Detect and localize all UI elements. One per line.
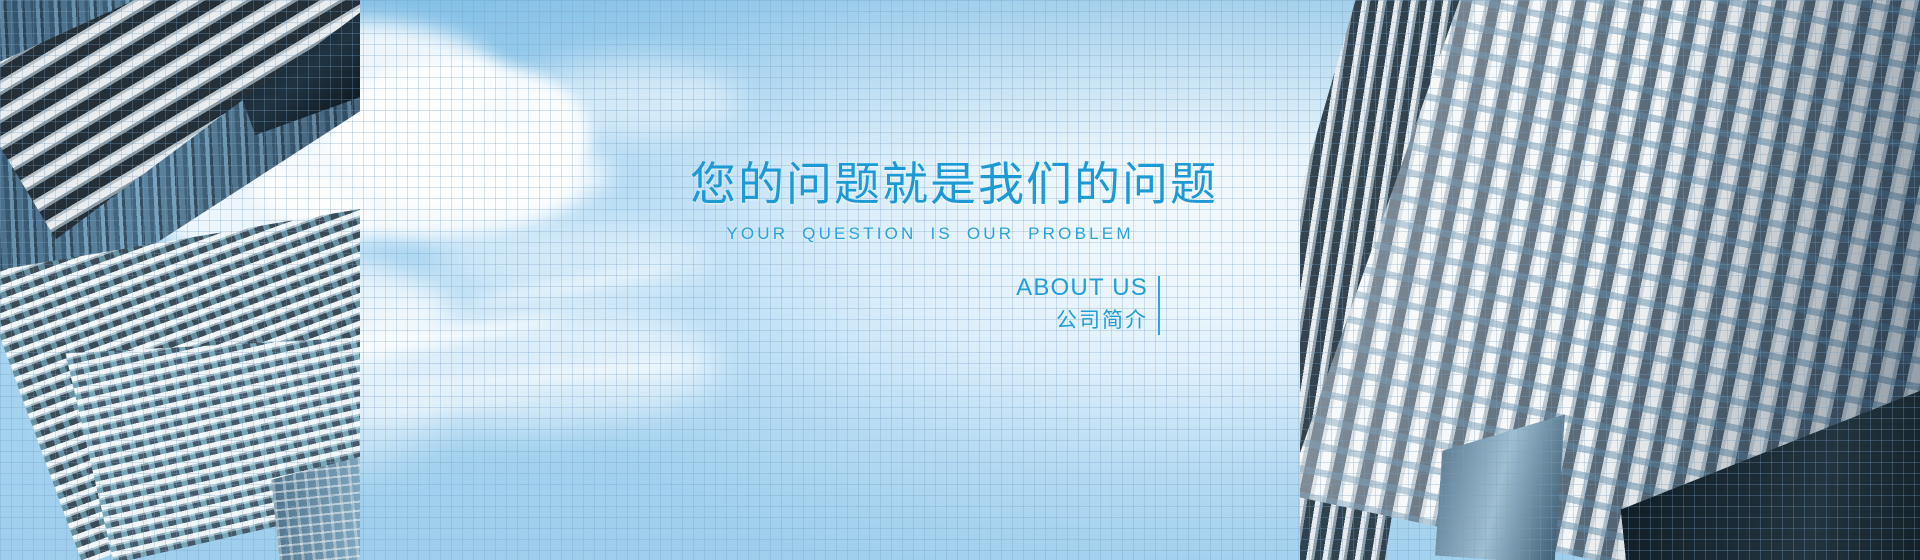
about-us-chinese-label: 公司简介	[1016, 306, 1148, 336]
banner-subheadline-english: YOUR QUESTION IS OUR PROBLEM	[690, 224, 1170, 244]
about-us-english-label: ABOUT US	[1016, 272, 1148, 304]
about-us-text-group: ABOUT US 公司简介	[1016, 272, 1158, 337]
banner-copy-block: 您的问题就是我们的问题 YOUR QUESTION IS OUR PROBLEM	[690, 160, 1170, 244]
right-buildings-group	[1300, 0, 1920, 560]
left-buildings-group	[0, 0, 360, 560]
about-us-accent-bar	[1158, 276, 1160, 335]
about-us-label-block: ABOUT US 公司简介	[690, 272, 1160, 337]
about-us-hero-banner: 您的问题就是我们的问题 YOUR QUESTION IS OUR PROBLEM…	[0, 0, 1920, 560]
banner-headline-chinese: 您的问题就是我们的问题	[690, 160, 1170, 210]
